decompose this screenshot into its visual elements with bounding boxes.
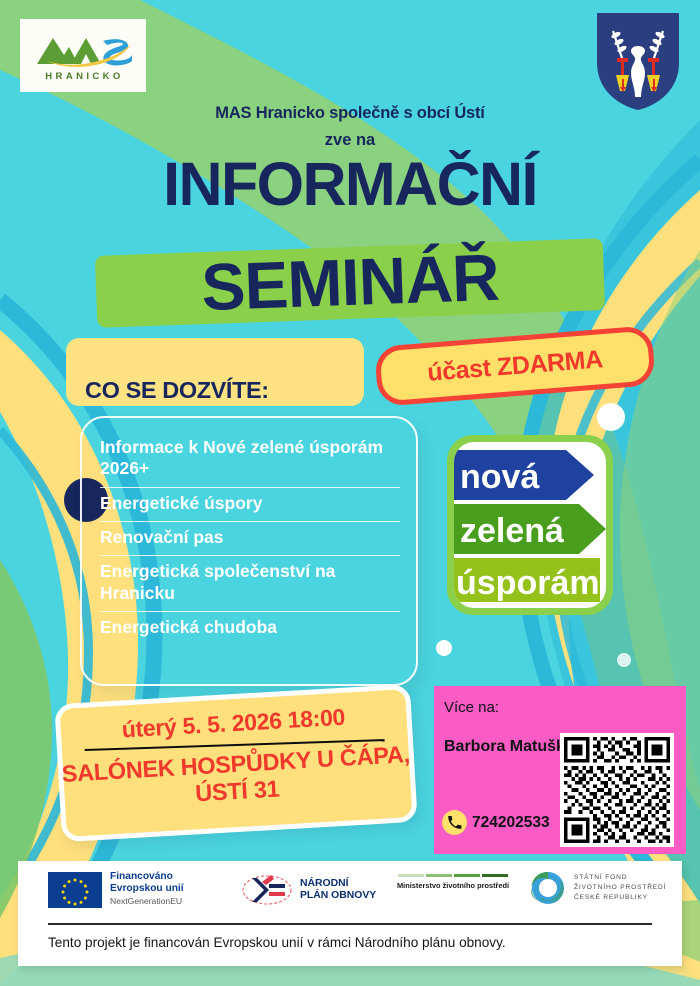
list-item: Renovační pas xyxy=(100,522,400,556)
sfzp-ring-icon xyxy=(530,870,566,906)
list-item: Energetické úspory xyxy=(100,488,400,522)
page-title-informacni: INFORMAČNÍ xyxy=(0,155,700,215)
mzp-text: Ministerstvo životního prostředí xyxy=(397,881,509,890)
footer-funding-note: Tento projekt je financován Evropskou un… xyxy=(48,935,668,950)
kicker-line-2: zve na xyxy=(0,131,700,150)
nzu-line3-text: úsporám xyxy=(456,564,600,602)
eu-line-2: Evropskou unií xyxy=(110,883,184,895)
qr-code[interactable] xyxy=(560,733,674,847)
sfzp-line-1: STÁTNÍ FOND xyxy=(574,873,666,883)
agenda-card: Informace k Nové zelené úsporám 2026+ En… xyxy=(80,416,418,686)
list-item: Informace k Nové zelené úsporám 2026+ xyxy=(100,432,400,488)
qr-code-icon xyxy=(564,737,670,843)
nzu-line1-text: nová xyxy=(460,458,539,496)
mzp-logo: Ministerstvo životního prostředí xyxy=(397,874,509,890)
narodni-plan-obnovy-icon xyxy=(240,871,294,909)
list-item: Energetická společenství na Hranicku xyxy=(100,556,400,612)
sfzp-line-3: ČESKÉ REPUBLIKY xyxy=(574,893,666,903)
event-venue: SALÓNEK HOSPŮDKY U ČÁPA, ÚSTÍ 31 xyxy=(57,741,415,814)
eu-line-3: NextGenerationEU xyxy=(110,896,184,906)
dot-white-right xyxy=(597,403,625,431)
sfzp-text: STÁTNÍ FOND ŽIVOTNÍHO PROSTŘEDÍ ČESKÉ RE… xyxy=(574,873,666,903)
agenda-heading: CO SE DOZVÍTE: xyxy=(85,377,269,404)
usti-municipal-crest xyxy=(593,9,683,112)
mas-hranicko-wordmark: HRANICKO xyxy=(42,71,123,82)
footer-divider xyxy=(48,923,652,925)
nova-zelena-usporam-logo: nová zelená úsporám xyxy=(447,435,613,615)
nzu-arrows-icon: nová zelená úsporám xyxy=(454,442,606,608)
list-item: Energetická chudoba xyxy=(100,612,400,645)
eu-flag-icon xyxy=(48,872,102,908)
mzp-bars-icon xyxy=(397,874,509,877)
narodni-plan-obnovy-logo: NÁRODNÍ PLÁN OBNOVY xyxy=(240,871,376,909)
contact-phone-number: 724202533 xyxy=(472,814,550,832)
poster-canvas: HRANICKO MAS Hranicko spol xyxy=(0,0,700,986)
kicker-line-1: MAS Hranicko společně s obcí Ústí xyxy=(0,104,700,123)
mas-mountains-icon xyxy=(31,30,135,70)
mas-hranicko-logo: HRANICKO xyxy=(20,19,146,92)
funding-footer: Financováno Evropskou unií NextGeneratio… xyxy=(18,861,682,966)
sfzp-line-2: ŽIVOTNÍHO PROSTŘEDÍ xyxy=(574,883,666,893)
npo-line-1: NÁRODNÍ xyxy=(300,878,376,890)
contact-phone[interactable]: 724202533 xyxy=(442,810,550,835)
eu-line-1: Financováno xyxy=(110,871,184,883)
sfzp-logo: STÁTNÍ FOND ŽIVOTNÍHO PROSTŘEDÍ ČESKÉ RE… xyxy=(530,870,666,906)
eu-funding-text: Financováno Evropskou unií NextGeneratio… xyxy=(110,871,184,906)
event-date: úterý 5. 5. 2026 18:00 xyxy=(121,704,346,744)
contact-label: Více na: xyxy=(444,699,499,716)
npo-text: NÁRODNÍ PLÁN OBNOVY xyxy=(300,878,376,903)
agenda-list: Informace k Nové zelené úsporám 2026+ En… xyxy=(82,418,416,645)
phone-icon xyxy=(442,810,467,835)
event-details-content: úterý 5. 5. 2026 18:00 SALÓNEK HOSPŮDKY … xyxy=(54,690,417,848)
npo-line-2: PLÁN OBNOVY xyxy=(300,890,376,902)
nzu-line2-text: zelená xyxy=(460,512,564,550)
